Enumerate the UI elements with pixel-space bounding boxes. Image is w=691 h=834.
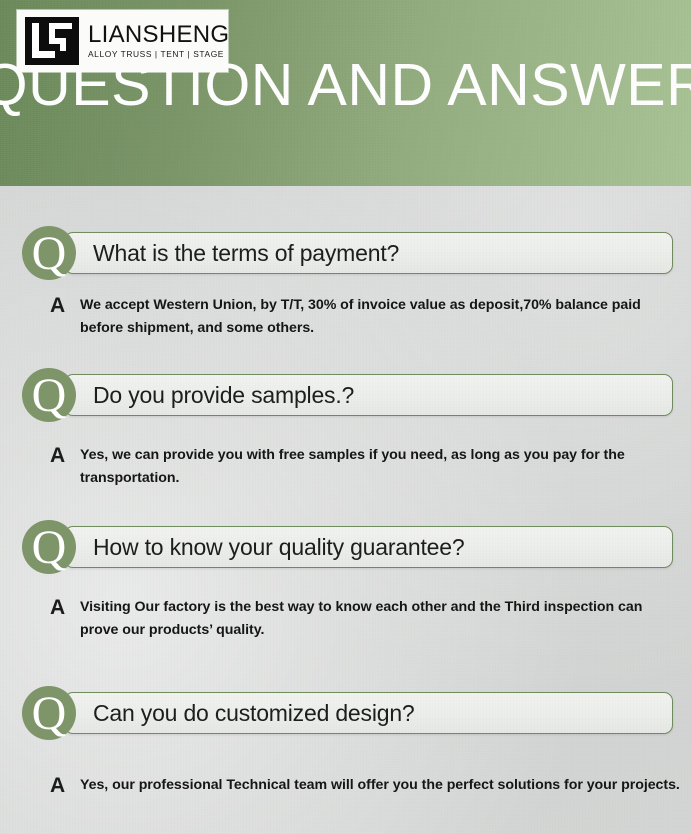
question-box[interactable]: What is the terms of payment? [64,232,673,274]
question-badge-icon: Q [22,686,76,740]
question-badge-icon: Q [22,368,76,422]
faq-item: Q Can you do customized design? A Yes, o… [0,686,691,797]
question-text: What is the terms of payment? [93,240,399,267]
question-text: Can you do customized design? [93,700,415,727]
faq-list: Q What is the terms of payment? A We acc… [0,186,691,797]
answer-text: Yes, our professional Technical team wil… [80,774,680,797]
company-logo: LIANSHENG ALLOY TRUSS | TENT | STAGE [17,10,228,72]
question-text: How to know your quality guarantee? [93,534,464,561]
question-badge-icon: Q [22,226,76,280]
question-badge-letter: Q [32,230,67,278]
answer-text: Yes, we can provide you with free sample… [80,444,681,490]
answer-row: A Yes, we can provide you with free samp… [50,444,681,490]
faq-item: Q Do you provide samples.? A Yes, we can… [0,368,691,490]
question-row: Q How to know your quality guarantee? [22,520,673,574]
logo-company-name: LIANSHENG [88,23,229,47]
logo-tagline: ALLOY TRUSS | TENT | STAGE [88,50,229,59]
answer-text: Visiting Our factory is the best way to … [80,596,681,642]
question-row: Q Do you provide samples.? [22,368,673,422]
faq-item: Q What is the terms of payment? A We acc… [0,226,691,340]
answer-row: A Yes, our professional Technical team w… [50,774,681,797]
answer-text: We accept Western Union, by T/T, 30% of … [80,294,681,340]
question-box[interactable]: Do you provide samples.? [64,374,673,416]
answer-badge-letter: A [50,444,80,467]
answer-row: A Visiting Our factory is the best way t… [50,596,681,642]
question-badge-letter: Q [32,524,67,572]
answer-row: A We accept Western Union, by T/T, 30% o… [50,294,681,340]
ls-monogram-icon [25,17,79,65]
question-badge-letter: Q [32,690,67,738]
logo-wordmark: LIANSHENG ALLOY TRUSS | TENT | STAGE [88,23,229,60]
question-box[interactable]: Can you do customized design? [64,692,673,734]
question-row: Q Can you do customized design? [22,686,673,740]
question-box[interactable]: How to know your quality guarantee? [64,526,673,568]
answer-badge-letter: A [50,294,80,317]
question-badge-letter: Q [32,372,67,420]
answer-badge-letter: A [50,596,80,619]
answer-badge-letter: A [50,774,80,797]
faq-page: QUESTION AND ANSWER LIANSHENG ALLOY TRUS… [0,0,691,834]
question-badge-icon: Q [22,520,76,574]
question-text: Do you provide samples.? [93,382,354,409]
faq-item: Q How to know your quality guarantee? A … [0,520,691,642]
question-row: Q What is the terms of payment? [22,226,673,280]
